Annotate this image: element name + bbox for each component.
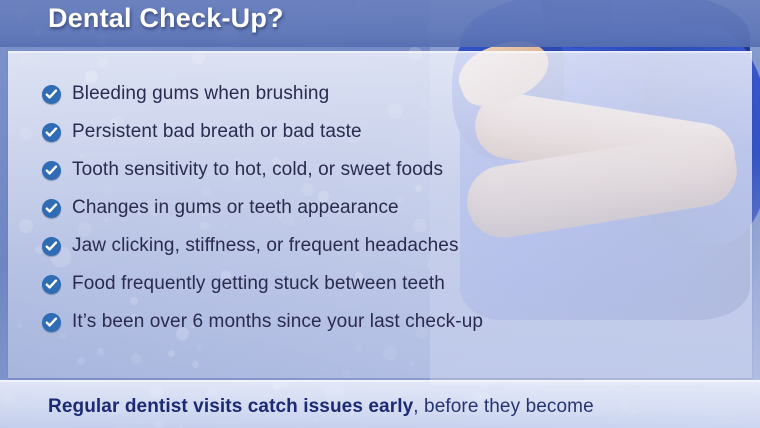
checklist-item: Changes in gums or teeth appearance xyxy=(42,189,752,227)
checklist-item-label: Food frequently getting stuck between te… xyxy=(72,273,445,295)
header-band: Dental Check-Up? xyxy=(0,0,760,47)
infographic-slide: Dental Check-Up? Bleeding gums when brus… xyxy=(0,0,760,428)
checklist-panel: Bleeding gums when brushingPersistent ba… xyxy=(8,51,752,378)
check-circle-icon xyxy=(42,85,61,104)
check-circle-icon xyxy=(42,275,61,294)
checklist-item-label: Bleeding gums when brushing xyxy=(72,83,329,105)
check-circle-icon xyxy=(42,313,61,332)
checklist-item-label: It’s been over 6 months since your last … xyxy=(72,311,483,333)
checklist-item-label: Persistent bad breath or bad taste xyxy=(72,121,362,143)
page-title: Dental Check-Up? xyxy=(48,3,284,34)
checklist-item-label: Changes in gums or teeth appearance xyxy=(72,197,399,219)
footer-rest-text: , before they become xyxy=(413,396,594,417)
footer-statement: Regular dentist visits catch issues earl… xyxy=(48,396,594,418)
checklist-item: Bleeding gums when brushing xyxy=(42,75,752,113)
check-circle-icon xyxy=(42,161,61,180)
footer-bold-text: Regular dentist visits catch issues earl… xyxy=(48,396,413,417)
checklist-item: Food frequently getting stuck between te… xyxy=(42,265,752,303)
check-circle-icon xyxy=(42,237,61,256)
checklist-item: Jaw clicking, stiffness, or frequent hea… xyxy=(42,227,752,265)
checklist-item: Tooth sensitivity to hot, cold, or sweet… xyxy=(42,151,752,189)
checklist-item-label: Tooth sensitivity to hot, cold, or sweet… xyxy=(72,159,443,181)
check-circle-icon xyxy=(42,199,61,218)
checklist-item-label: Jaw clicking, stiffness, or frequent hea… xyxy=(72,235,459,257)
checklist: Bleeding gums when brushingPersistent ba… xyxy=(8,53,752,341)
check-circle-icon xyxy=(42,123,61,142)
checklist-item: It’s been over 6 months since your last … xyxy=(42,303,752,341)
footer-panel: Regular dentist visits catch issues earl… xyxy=(0,380,760,428)
checklist-item: Persistent bad breath or bad taste xyxy=(42,113,752,151)
